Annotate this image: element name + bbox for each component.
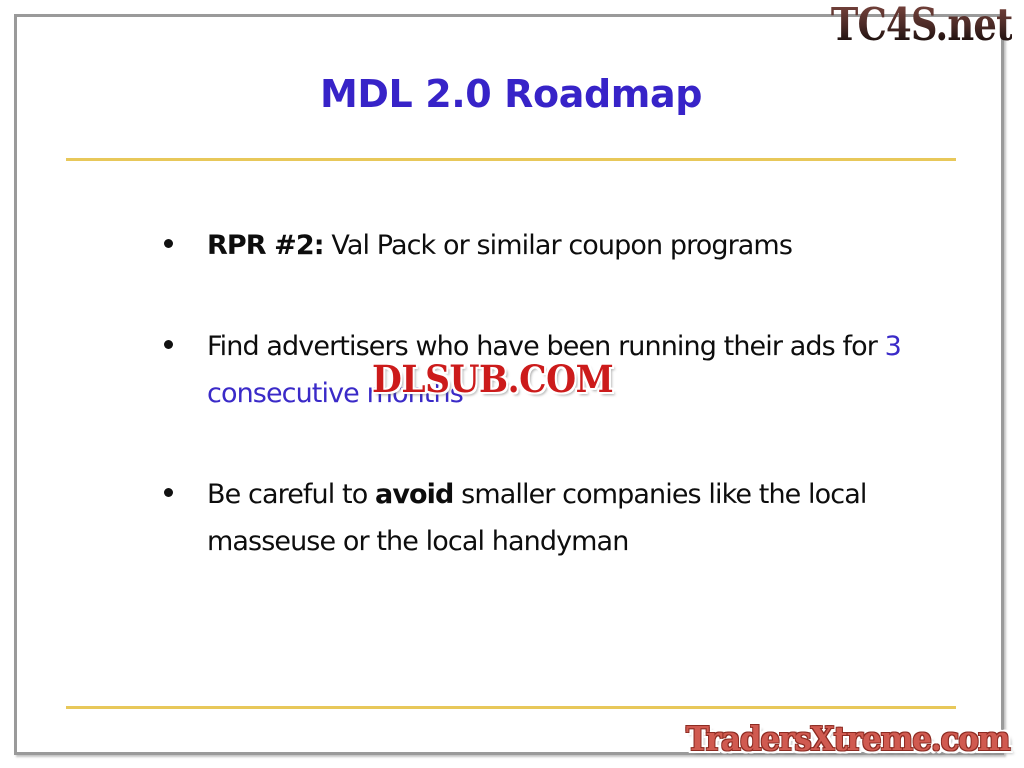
divider-bottom — [66, 706, 956, 709]
list-item-body: Be careful to — [207, 479, 375, 510]
list-item: RPR #2: Val Pack or similar coupon progr… — [160, 222, 960, 269]
bullet-dot-icon — [164, 488, 173, 497]
slide-canvas: MDL 2.0 Roadmap RPR #2: Val Pack or simi… — [0, 0, 1024, 768]
list-item: Find advertisers who have been running t… — [160, 323, 960, 417]
list-item-text: RPR #2: Val Pack or similar coupon progr… — [207, 230, 792, 261]
list-item-emphasis: avoid — [375, 479, 453, 510]
list-item: Be careful to avoid smaller companies li… — [160, 471, 960, 565]
list-item-body: Val Pack or similar coupon programs — [324, 230, 792, 261]
divider-top — [66, 158, 956, 161]
bullet-dot-icon — [164, 239, 173, 248]
page-title: MDL 2.0 Roadmap — [66, 72, 956, 116]
list-item-text: Be careful to avoid smaller companies li… — [207, 479, 866, 557]
list-item-text: Find advertisers who have been running t… — [207, 331, 901, 409]
bullet-dot-icon — [164, 340, 173, 349]
list-item-body: Find advertisers who have been running t… — [207, 331, 885, 362]
bullet-list: RPR #2: Val Pack or similar coupon progr… — [160, 222, 960, 565]
list-item-lead-bold: RPR #2: — [207, 230, 324, 261]
